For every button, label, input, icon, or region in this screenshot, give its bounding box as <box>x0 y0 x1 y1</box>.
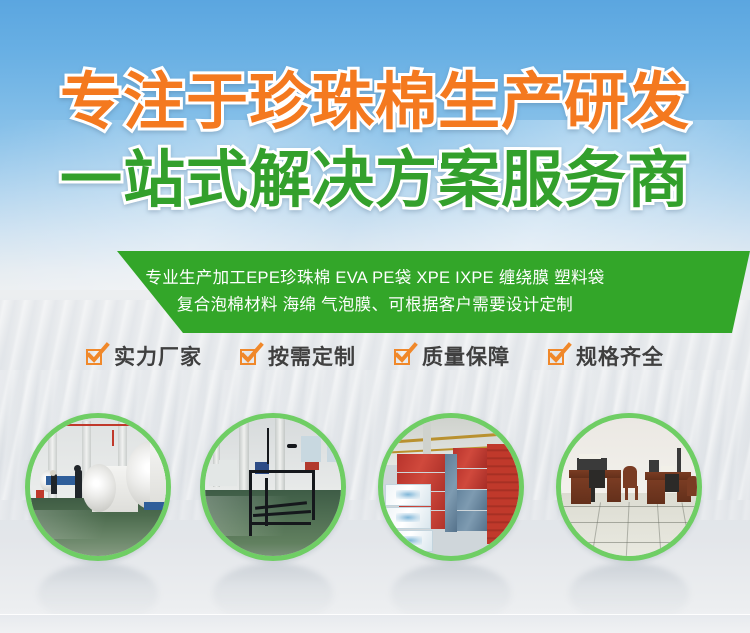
photo-item-3[interactable] <box>556 413 702 561</box>
feature-label: 规格齐全 <box>576 341 664 371</box>
photo-item-0[interactable] <box>25 413 171 561</box>
green-banner-text: 专业生产加工EPE珍珠棉 EVA PE袋 XPE IXPE 缠绕膜 塑料袋 复合… <box>0 251 750 333</box>
check-box-icon <box>394 347 413 366</box>
check-box-icon <box>86 347 105 366</box>
feature-item-2: 质量保障 <box>394 341 510 371</box>
photo-office[interactable] <box>556 413 702 561</box>
photo-item-2[interactable] <box>378 413 524 561</box>
check-box-icon <box>548 347 567 366</box>
photo-stacked-products[interactable] <box>378 413 524 561</box>
headline-line-2: 一站式解决方案服务商 <box>0 150 750 212</box>
feature-label: 质量保障 <box>422 341 510 371</box>
photo-warehouse-rack[interactable] <box>200 413 346 561</box>
floor-base-shading <box>0 615 750 633</box>
floor-highlight-line <box>0 614 750 615</box>
headline-block: 专注于珍珠棉生产研发 一站式解决方案服务商 <box>0 72 750 212</box>
feature-list: 实力厂家 按需定制 质量保障 <box>0 341 750 371</box>
check-box-icon <box>240 347 259 366</box>
feature-item-3: 规格齐全 <box>548 341 664 371</box>
band-text-line-2: 复合泡棉材料 海绵 气泡膜、可根据客户需要设计定制 <box>177 292 573 319</box>
photo-gallery <box>0 413 750 633</box>
headline-line-1: 专注于珍珠棉生产研发 <box>0 72 750 134</box>
photo-item-1[interactable] <box>200 413 346 561</box>
feature-label: 按需定制 <box>268 341 356 371</box>
feature-label: 实力厂家 <box>114 341 202 371</box>
feature-item-0: 实力厂家 <box>86 341 202 371</box>
photo-foam-roll-production[interactable] <box>25 413 171 561</box>
promotional-banner: 专注于珍珠棉生产研发 一站式解决方案服务商 专业生产加工EPE珍珠棉 EVA P… <box>0 0 750 633</box>
feature-item-1: 按需定制 <box>240 341 356 371</box>
band-text-line-1: 专业生产加工EPE珍珠棉 EVA PE袋 XPE IXPE 缠绕膜 塑料袋 <box>145 265 604 292</box>
